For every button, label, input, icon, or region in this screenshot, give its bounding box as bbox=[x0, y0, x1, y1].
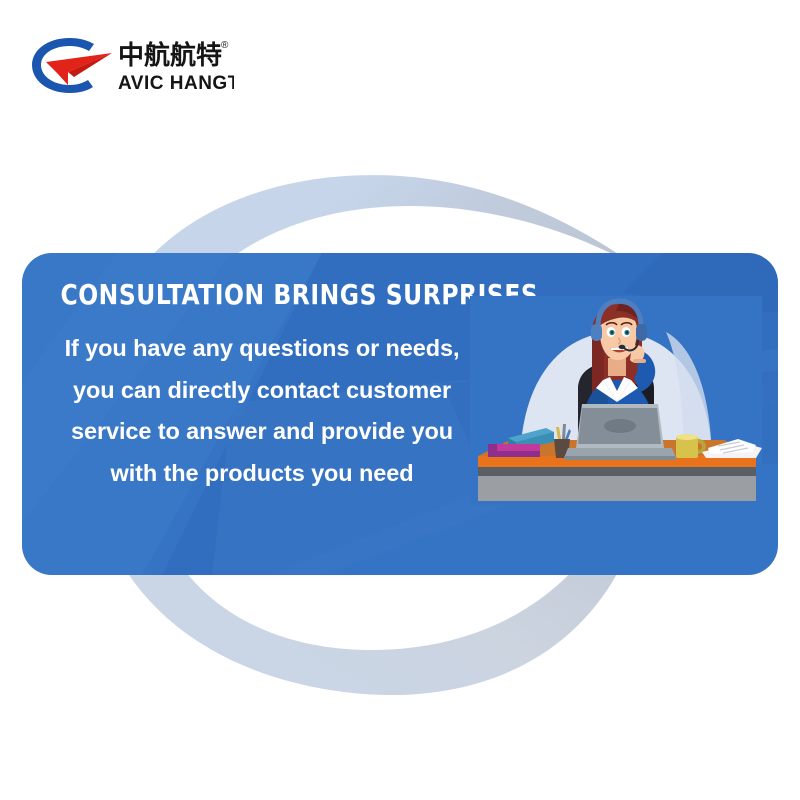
banner-canvas: 中航航特 ® AVIC HANGTE CONSULTATION BRINGS S… bbox=[0, 0, 800, 800]
headset-earcup-right bbox=[636, 324, 647, 341]
page-title: CONSULTATION BRINGS SURPRISES bbox=[40, 280, 451, 309]
headset-earcup-left bbox=[591, 324, 602, 341]
wristwatch bbox=[633, 359, 646, 363]
mug-rim bbox=[676, 434, 698, 440]
card-body-text: If you have any questions or needs, you … bbox=[40, 328, 482, 494]
floor bbox=[478, 476, 756, 501]
card-copy-block: CONSULTATION BRINGS SURPRISES If you hav… bbox=[22, 253, 492, 575]
logo-en-text: AVIC HANGTE bbox=[118, 73, 234, 94]
customer-service-agent-at-desk-icon bbox=[470, 296, 762, 505]
customer-service-illustration bbox=[470, 296, 762, 505]
book-purple bbox=[488, 451, 540, 457]
laptop-logo bbox=[604, 419, 636, 433]
neck bbox=[608, 358, 626, 376]
logo-cn-text: 中航航特 bbox=[118, 40, 222, 71]
registered-mark: ® bbox=[221, 40, 229, 51]
laptop-hinge bbox=[564, 456, 676, 460]
desk-shadow bbox=[478, 467, 756, 476]
headset-mic bbox=[619, 345, 626, 349]
brand-logo[interactable]: 中航航特 ® AVIC HANGTE bbox=[24, 32, 234, 98]
